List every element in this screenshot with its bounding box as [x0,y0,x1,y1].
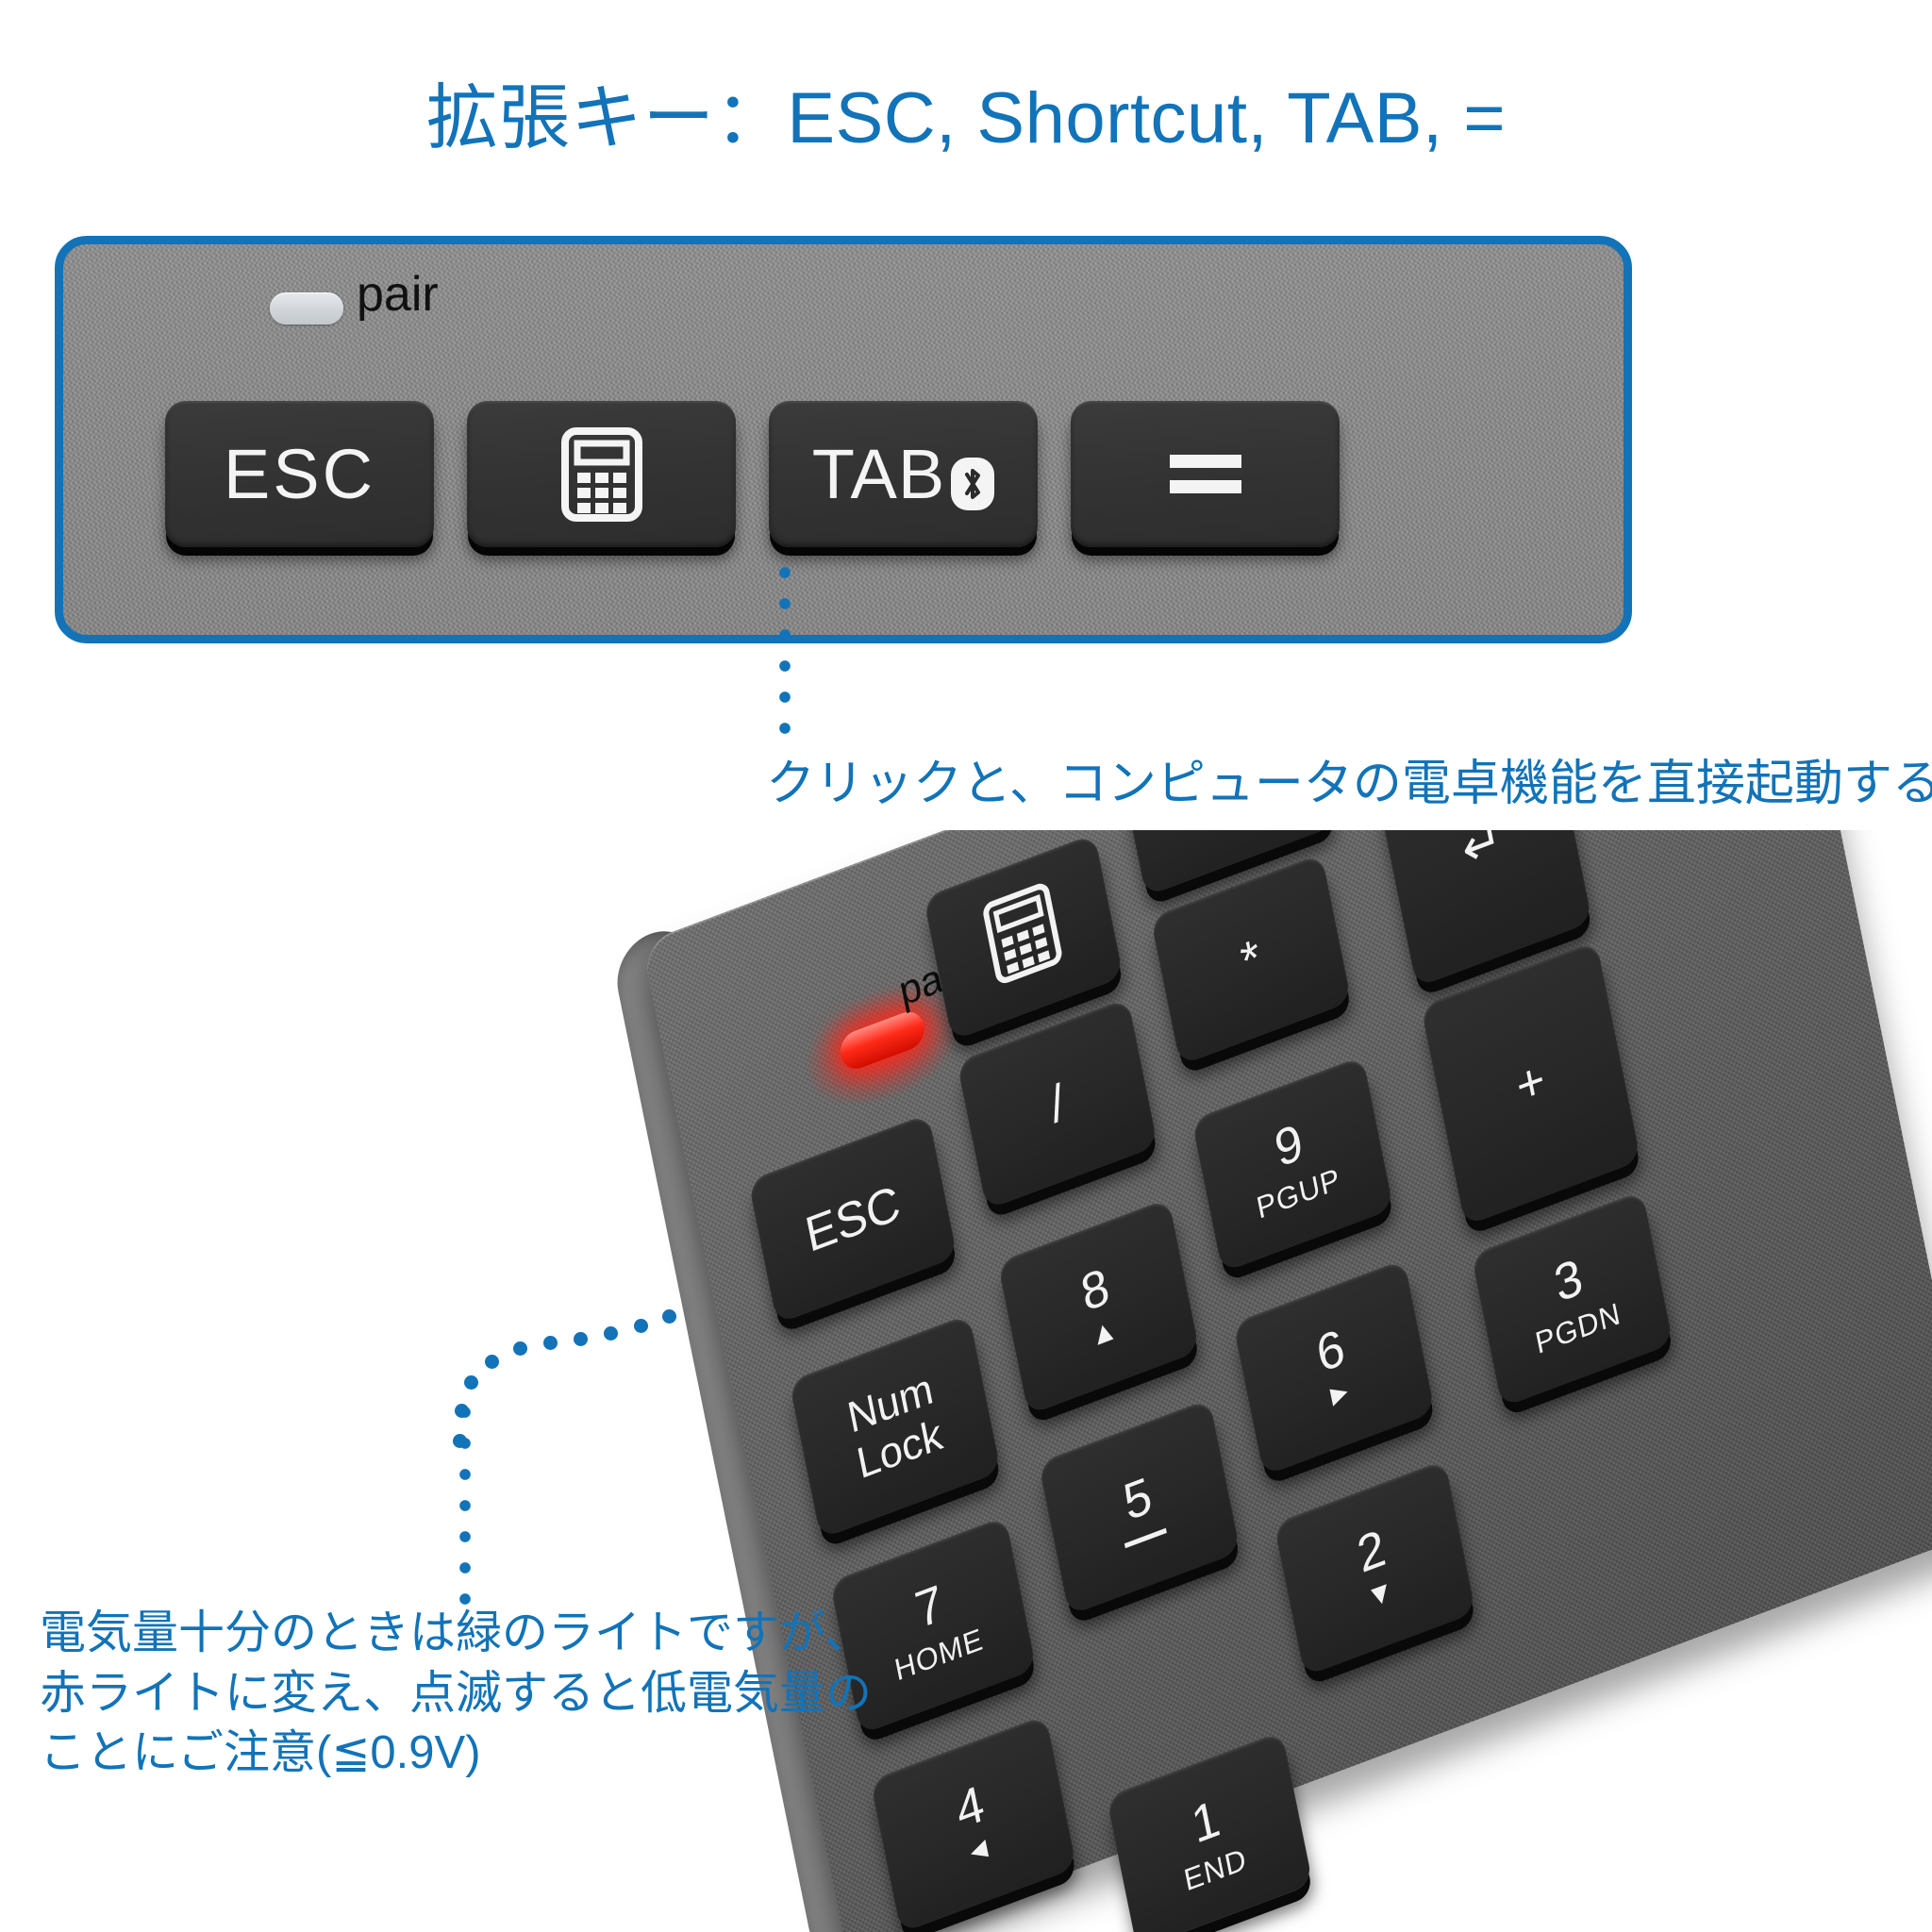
key-equals[interactable] [1071,401,1340,547]
infographic-canvas: 拡張キー：ESC, Shortcut, TAB, = pair ESC [0,0,1932,1932]
photo-key-2-label: 2 [1354,1523,1390,1582]
photo-key-8-label: 8 [1077,1260,1113,1320]
arrow-down-icon: ▼ [1364,1575,1397,1614]
photo-key-4[interactable]: 4 ◄ [870,1715,1076,1932]
key-esc-label: ESC [224,434,375,514]
photo-key-8[interactable]: 8 ▲ [997,1198,1199,1415]
key-tab-label: TAB [812,434,945,514]
photo-key-esc-label: ESC [802,1177,905,1259]
photo-key-slash[interactable]: / [957,998,1158,1210]
photo-key-plus[interactable]: + [1421,941,1641,1225]
arrow-left-icon: ◄ [962,1831,995,1870]
key-esc[interactable]: ESC [165,401,434,547]
photo-key-slash-label: / [1045,1076,1069,1131]
battery-note: 電気量十分のときは緑のライトですが、 赤ライトに変え、点滅すると低電気量の こと… [40,1604,872,1784]
arrow-right-icon: ► [1324,1375,1357,1414]
leader-line-calculator [778,566,791,745]
photo-key-6[interactable]: 6 ► [1233,1259,1435,1476]
photo-key-6-label: 6 [1312,1322,1348,1381]
leader-line-battery-note-vertical [458,1406,472,1608]
photo-key-numlock[interactable]: Num Lock [789,1314,1001,1539]
photo-key-enter-label: ↵ [1457,830,1507,877]
battery-note-line-2: 赤ライトに変え、点滅すると低電気量の [40,1664,872,1724]
photo-key-5-label: 5 [1120,1470,1156,1529]
photo-key-3-label: 3 [1550,1251,1586,1310]
photo-key-asterisk[interactable]: * [1150,854,1351,1066]
pair-label: pair [357,270,439,319]
arrow-up-icon: ▲ [1088,1314,1121,1353]
photo-key-esc[interactable]: ESC [748,1113,958,1324]
photo-key-5[interactable]: 5 [1038,1399,1240,1616]
photo-key-numlock-label: Num Lock [843,1365,945,1487]
key-calculator-shortcut[interactable] [467,401,736,547]
battery-note-line-3: ことにご注意(≦0.9V) [40,1724,872,1784]
key-tab[interactable]: TAB [769,401,1038,547]
photo-key-4-label: 4 [952,1778,988,1838]
photo-key-1-label: 1 [1188,1792,1224,1852]
photo-key-9[interactable]: 9 PGUP [1191,1056,1393,1273]
calculator-icon [561,427,642,522]
led-pill-icon [270,292,343,325]
photo-key-tab-label: TAB [1163,830,1254,834]
photo-key-3[interactable]: 3 PGDN [1471,1191,1673,1407]
bluetooth-icon [951,458,994,510]
page-title: 拡張キー：ESC, Shortcut, TAB, = [0,81,1932,157]
photo-key-asterisk-label: * [1237,931,1265,988]
battery-note-line-1: 電気量十分のときは緑のライトですが、 [40,1604,872,1664]
photo-key-2[interactable]: 2 ▼ [1274,1459,1475,1676]
equals-icon [1170,455,1241,493]
photo-key-plus-label: + [1512,1054,1550,1113]
photo-key-7-label: 7 [911,1577,947,1637]
photo-key-9-label: 9 [1271,1116,1307,1175]
photo-key-1-sub: END [1181,1842,1249,1895]
leader-line-battery-note [453,1336,689,1449]
photo-key-1[interactable]: 1 END [1107,1731,1313,1932]
calculator-caption: クリックと、コンピュータの電卓機能を直接起動する [766,755,1932,813]
calculator-icon [981,879,1066,995]
